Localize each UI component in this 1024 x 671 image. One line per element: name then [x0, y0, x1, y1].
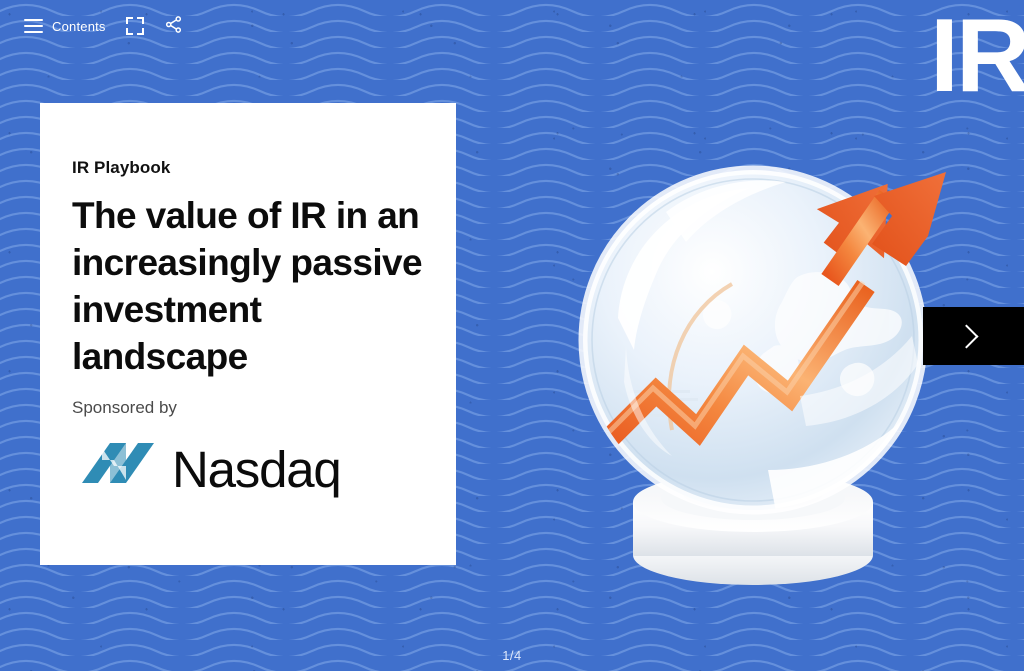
slide-viewer: Contents IR — [0, 0, 1024, 671]
fullscreen-button[interactable] — [116, 9, 154, 43]
next-slide-button[interactable] — [923, 307, 1024, 365]
viewer-toolbar: Contents — [0, 0, 1024, 52]
share-button[interactable] — [154, 9, 193, 43]
share-icon — [164, 15, 183, 37]
slide-content-card: IR Playbook The value of IR in an increa… — [40, 103, 456, 565]
fullscreen-icon — [126, 17, 144, 35]
sponsored-by-label: Sponsored by — [72, 398, 426, 418]
sponsor-logo: Nasdaq — [80, 436, 426, 503]
contents-label: Contents — [52, 19, 106, 34]
nasdaq-mark-icon — [80, 436, 158, 503]
hamburger-icon — [24, 19, 43, 33]
nasdaq-wordmark: Nasdaq — [172, 444, 341, 495]
page-indicator: 1/4 — [0, 648, 1024, 663]
contents-menu-button[interactable]: Contents — [14, 9, 116, 43]
chevron-right-icon — [954, 324, 978, 348]
card-kicker: IR Playbook — [72, 158, 426, 178]
page-title: The value of IR in an increasingly passi… — [72, 192, 426, 380]
